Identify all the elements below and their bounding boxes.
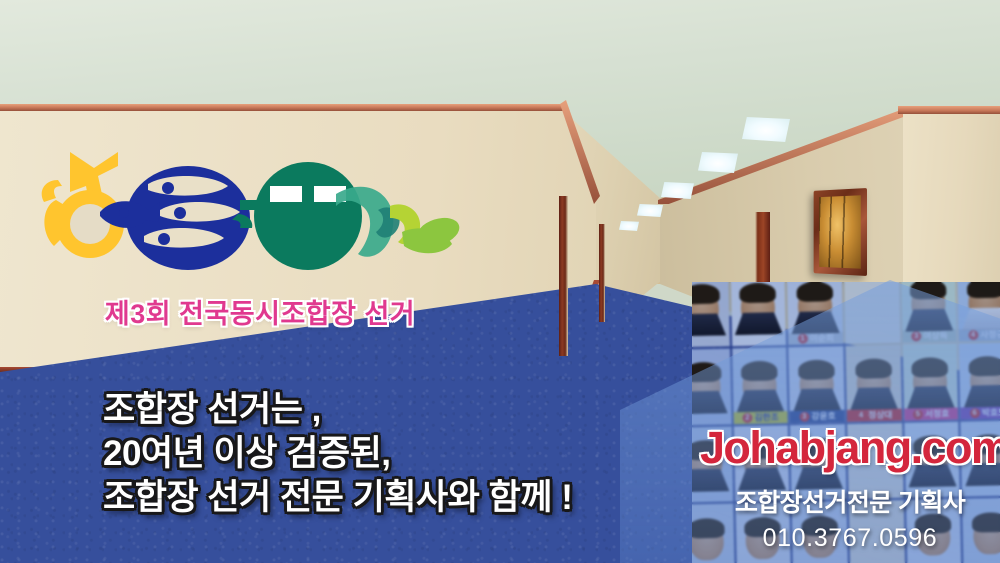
headline-text: 조합장 선거는 , 20여년 이상 검증된, 조합장 선거 전문 기획사와 함께… xyxy=(103,388,663,520)
election-emblem xyxy=(40,140,460,270)
brand-phone: 010.3767.0596 xyxy=(700,524,1000,553)
emblem-caption: 제3회 전국동시조합장 선거 xyxy=(60,292,460,331)
headline-line-3: 조합장 선거 전문 기획사와 함께 ! xyxy=(103,476,663,520)
framed-artwork xyxy=(814,188,867,276)
corridor-door xyxy=(559,196,568,356)
headline-line-2: 20여년 이상 검증된, xyxy=(103,432,663,476)
headline-line-1: 조합장 선거는 , xyxy=(103,388,663,432)
corridor-door xyxy=(599,224,605,322)
ceiling-light-panel xyxy=(742,117,790,142)
left-wall-crown-trim xyxy=(0,104,563,111)
emblem-svg xyxy=(40,140,460,270)
fishery-mark xyxy=(100,166,250,270)
ceiling-light-panel xyxy=(619,221,639,231)
forestry-mark xyxy=(232,162,362,270)
artwork-canvas xyxy=(819,195,861,268)
promo-banner: 제3회 전국동시조합장 선거 조합장 선거는 , 20여년 이상 검증된, 조합… xyxy=(0,0,1000,563)
right-return-crown-trim xyxy=(898,106,1000,114)
brand-tagline: 조합장선거전문 기획사 xyxy=(700,483,1000,519)
ceiling-light-panel xyxy=(661,182,694,199)
brand-watermark: Johabjang.com 조합장선거전문 기획사 010.3767.0596 xyxy=(700,424,1000,563)
ceiling-light-panel xyxy=(698,152,738,173)
ceiling-light-panel xyxy=(637,204,663,217)
brand-domain[interactable]: Johabjang.com xyxy=(700,424,1000,471)
